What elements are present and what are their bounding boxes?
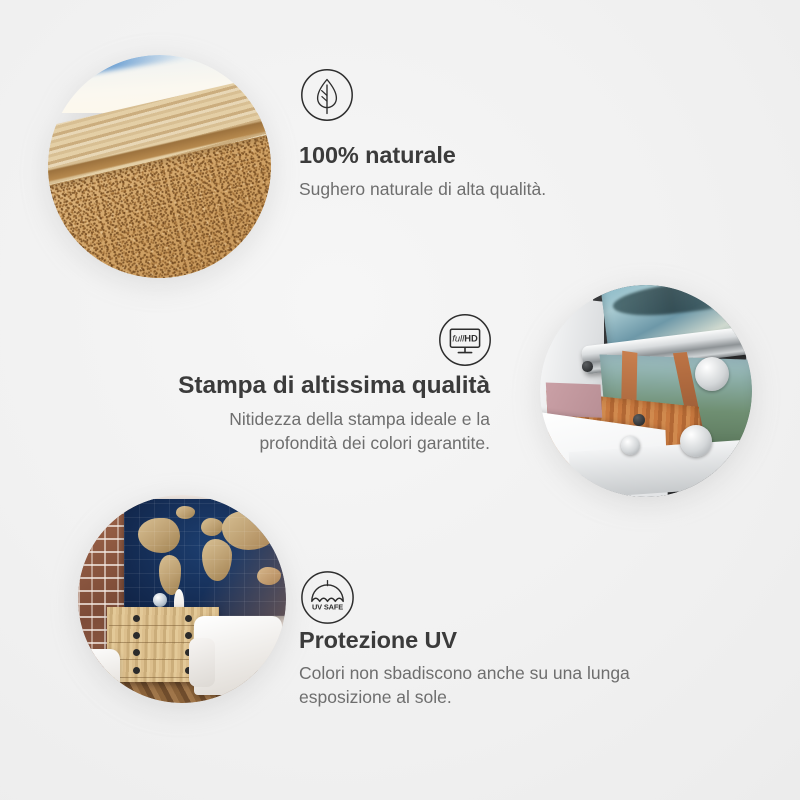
map-africa <box>202 539 232 581</box>
world-map-canvas <box>124 499 286 615</box>
cork-texture-photo <box>48 55 271 278</box>
map-asia <box>222 511 278 551</box>
map-greenland <box>176 506 195 519</box>
dresser-knob <box>185 615 192 622</box>
dresser-knob <box>185 632 192 639</box>
dresser-knob <box>133 632 140 639</box>
printing-machine-photo <box>540 285 752 497</box>
room-world-map-photo <box>78 495 286 703</box>
feature-uv-body: Colori non sbadiscono anche su una lunga… <box>299 662 679 710</box>
room-armchair-left <box>78 649 120 703</box>
feature-natural-body: Sughero naturale di alta qualità. <box>299 178 546 202</box>
feature-print-body: Nitidezza della stampa ideale e la profo… <box>120 408 490 456</box>
uv-safe-umbrella-icon: UV SAFE <box>300 570 355 625</box>
map-australia <box>257 567 281 586</box>
feature-print-text: Stampa di altissima qualità Nitidezza de… <box>120 372 490 456</box>
printer-bolt-left <box>582 361 593 372</box>
feature-uv-body-line-1: Colori non sbadiscono anche su una lunga <box>299 662 679 686</box>
map-europe <box>201 518 224 537</box>
feature-uv-heading: Protezione UV <box>299 627 679 654</box>
feature-uv-text: Protezione UV Colori non sbadiscono anch… <box>299 627 679 710</box>
feature-natural-text: 100% naturale Sughero naturale di alta q… <box>299 142 546 202</box>
cork-photo-inner <box>48 55 271 278</box>
dresser-knob <box>133 667 140 674</box>
svg-text:fullHD: fullHD <box>452 332 478 343</box>
feature-print-body-line-1: Nitidezza della stampa ideale e la <box>120 408 490 432</box>
feature-uv-body-line-2: esposizione al sole. <box>299 686 679 710</box>
leaf-icon <box>300 68 354 122</box>
map-north-america <box>138 518 180 553</box>
feature-panel: 100% naturale Sughero naturale di alta q… <box>0 0 800 800</box>
fullhd-monitor-icon: fullHD <box>438 313 492 367</box>
svg-text:UV SAFE: UV SAFE <box>312 603 343 612</box>
dresser-knob <box>133 615 140 622</box>
printer-knob-right <box>695 357 729 391</box>
printer-photo-inner <box>540 285 752 497</box>
printer-bolt-center <box>633 414 645 426</box>
feature-print-body-line-2: profondità dei colori garantite. <box>120 432 490 456</box>
printer-knob-center <box>621 436 640 455</box>
printer-knob-lower-right <box>680 425 712 457</box>
room-photo-inner <box>78 495 286 703</box>
feature-print-heading: Stampa di altissima qualità <box>120 372 490 400</box>
dresser-knob <box>133 649 140 656</box>
room-armchair-right <box>194 616 281 695</box>
feature-natural-heading: 100% naturale <box>299 142 546 169</box>
